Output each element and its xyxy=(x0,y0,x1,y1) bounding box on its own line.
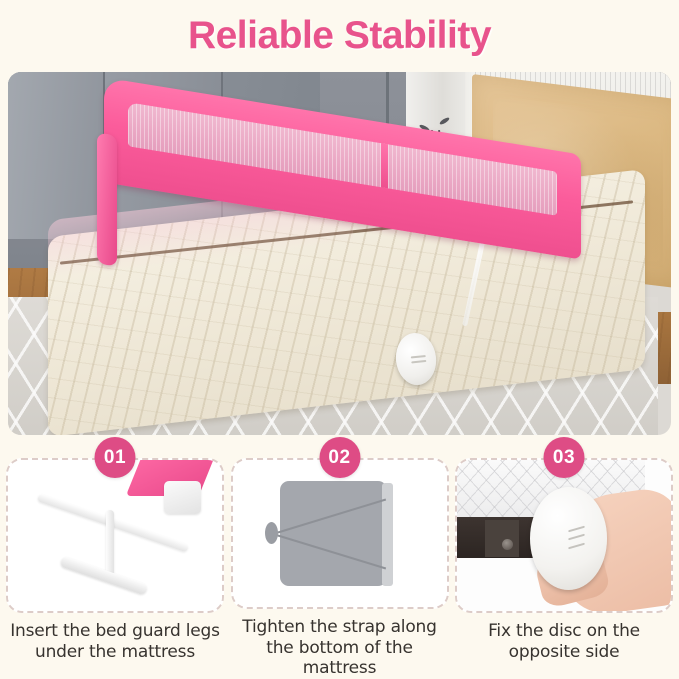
steps-row: 01 Insert the bed guard legs under the m… xyxy=(0,437,679,679)
disc-slot xyxy=(568,526,585,533)
hero-image xyxy=(8,72,671,435)
disc-slot xyxy=(568,534,585,541)
frame-screw-icon xyxy=(502,539,513,550)
disc-slot xyxy=(411,355,426,359)
step-03-image xyxy=(455,458,673,613)
step-02: 02 Tighten the strap along the bottom of… xyxy=(231,437,449,679)
step-01-image xyxy=(6,458,224,613)
strap-disc-icon xyxy=(265,522,278,544)
disc-slot xyxy=(568,542,585,549)
step-03: 03 Fix the disc on the opposite side xyxy=(455,437,673,679)
disc-slot xyxy=(411,360,426,364)
header: Reliable Stability xyxy=(0,0,679,72)
anchor-disc xyxy=(530,487,607,590)
mattress-diagram xyxy=(280,481,387,587)
step-number-badge: 03 xyxy=(544,437,585,478)
rail-bracket xyxy=(164,481,200,514)
step-number-badge: 01 xyxy=(95,437,136,478)
step-number-badge: 02 xyxy=(319,437,360,478)
step-03-caption: Fix the disc on the opposite side xyxy=(456,621,672,662)
rail-divider xyxy=(381,143,388,188)
step-02-caption: Tighten the strap along the bottom of th… xyxy=(232,617,448,679)
hero-scene xyxy=(8,72,671,435)
rail-end-post xyxy=(97,132,117,266)
guard-leg-vertical xyxy=(106,510,114,576)
step-02-image xyxy=(231,458,449,609)
frame-block xyxy=(485,520,519,556)
wardrobe-door-left xyxy=(8,72,105,239)
step-01: 01 Insert the bed guard legs under the m… xyxy=(6,437,224,679)
step-01-caption: Insert the bed guard legs under the matt… xyxy=(7,621,223,662)
page-title: Reliable Stability xyxy=(188,14,491,58)
